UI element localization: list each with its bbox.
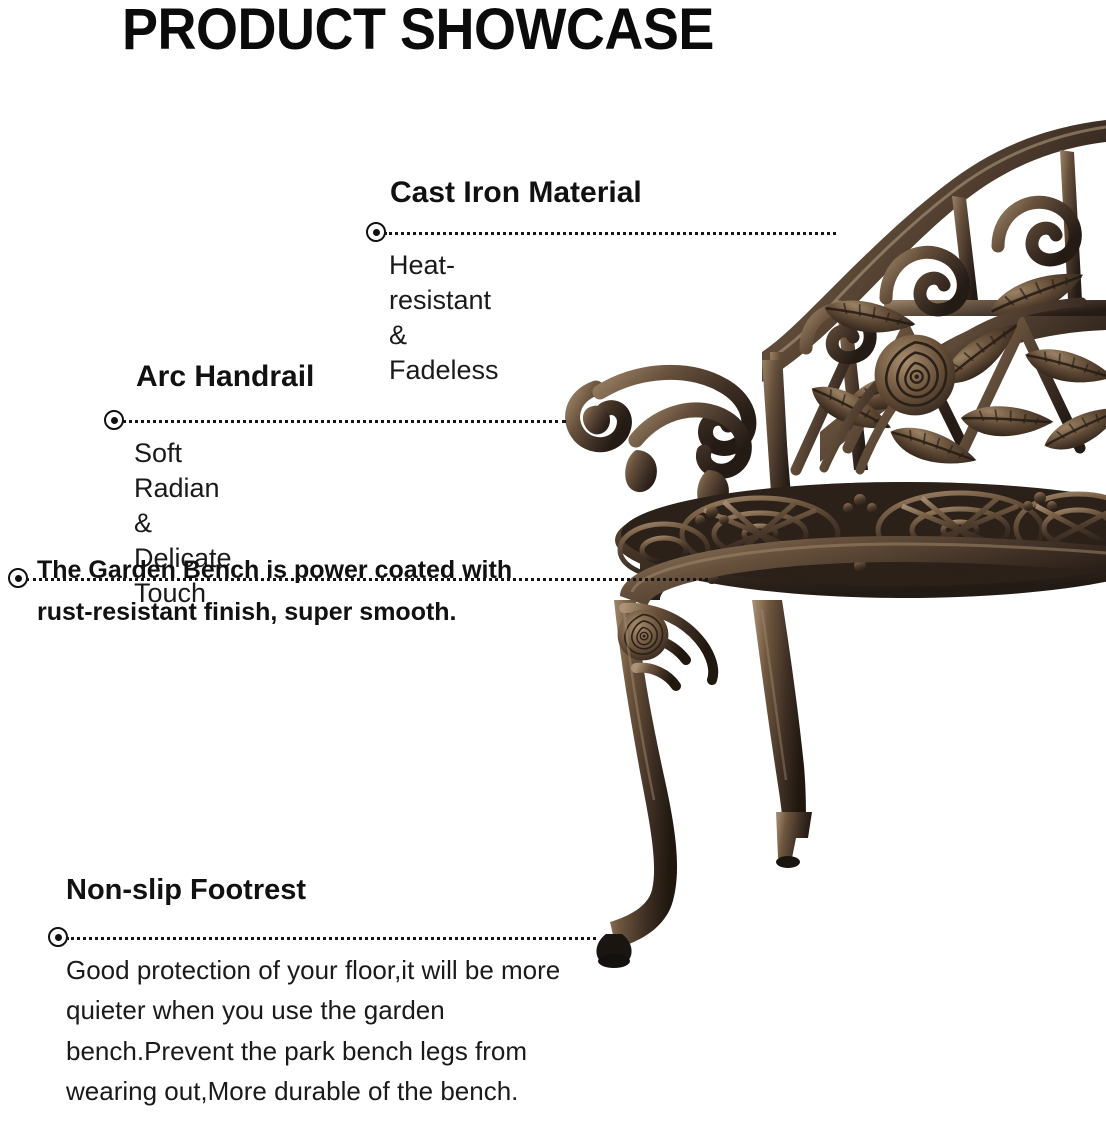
leader-marker-icon [366,222,386,242]
leader-dotted-rule [66,937,596,940]
callout-title: Arc Handrail [136,360,314,394]
callout-subtitle: The Garden Bench is power coated with ru… [37,550,517,633]
callout-title: Non-slip Footrest [66,874,306,906]
callout-subtitle: Good protection of your floor,it will be… [66,950,596,1111]
leader-marker-icon [104,410,124,430]
callout-title: Cast Iron Material [390,176,642,210]
callout-subtitle: Heat-resistant & Fadeless [389,248,499,388]
leader-dotted-rule [384,232,836,235]
leader-dotted-rule [122,420,566,423]
leader-marker-icon [48,927,68,947]
page-title: PRODUCT SHOWCASE [122,0,714,63]
leader-line [104,410,566,430]
product-showcase-page: PRODUCT SHOWCASE Cast Iron Material Heat… [0,0,1106,1148]
leader-dotted-rule [26,578,708,581]
leader-marker-icon [8,568,28,588]
leader-line [8,568,708,588]
leader-line [48,927,596,947]
leader-line [366,222,836,242]
